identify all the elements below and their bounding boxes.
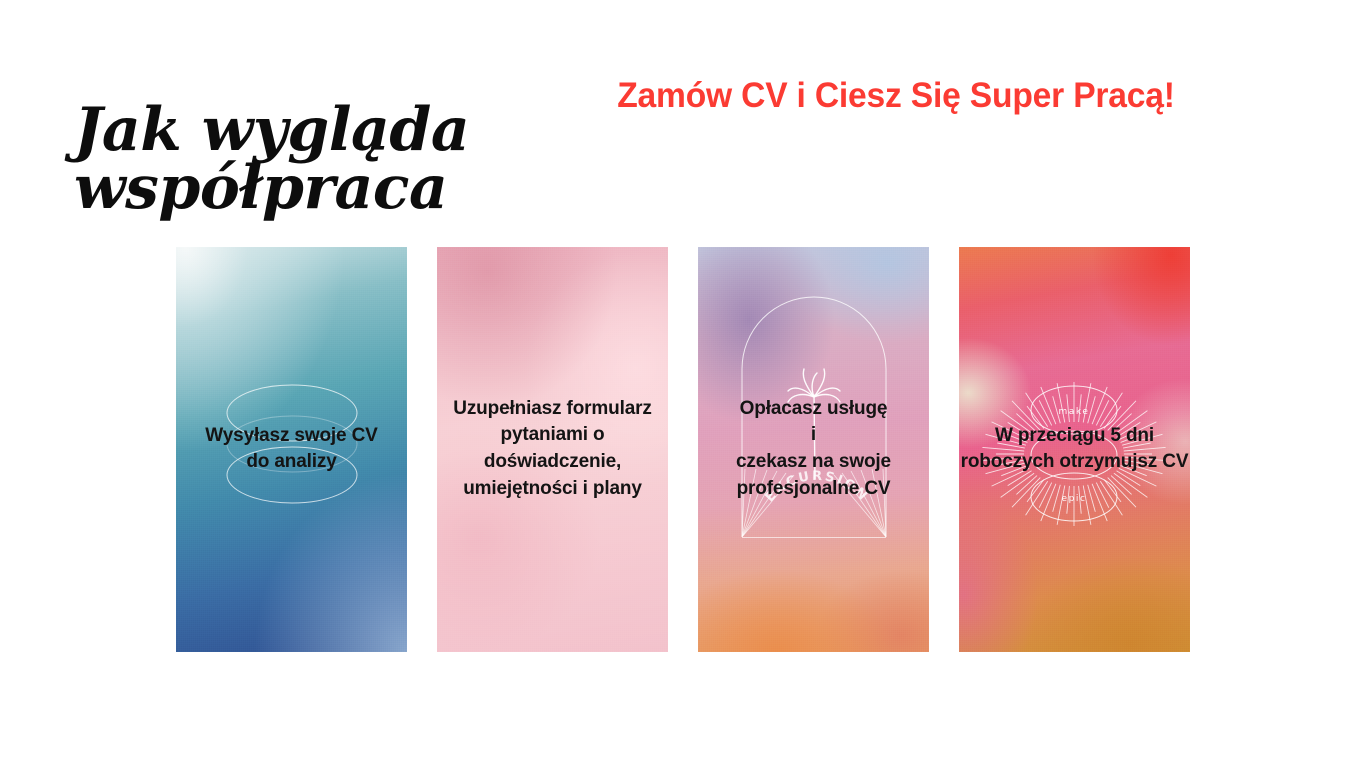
card-1-caption: Wysyłasz swoje CV do analizy: [176, 423, 407, 477]
page-title: Jak wygląda współpraca: [74, 102, 504, 217]
step-card-3[interactable]: EXCURSION Opłacasz usługę i czekasz na s…: [698, 247, 929, 652]
step-card-4[interactable]: make epic W przeciągu 5 dni roboczych ot…: [959, 247, 1190, 652]
page-subtitle: Zamów CV i Ciesz Się Super Pracą!: [570, 78, 1223, 115]
card-3-caption: Opłacasz usługę i czekasz na swoje profe…: [698, 396, 929, 504]
card-4-caption: W przeciągu 5 dni roboczych otrzymujsz C…: [959, 423, 1190, 477]
steps-card-row: Wysyłasz swoje CV do analizy Uzupełniasz…: [176, 247, 1188, 652]
step-card-2[interactable]: Uzupełniasz formularz pytaniami o doświa…: [437, 247, 668, 652]
card-2-caption: Uzupełniasz formularz pytaniami o doświa…: [437, 396, 668, 504]
step-card-1[interactable]: Wysyłasz swoje CV do analizy: [176, 247, 407, 652]
